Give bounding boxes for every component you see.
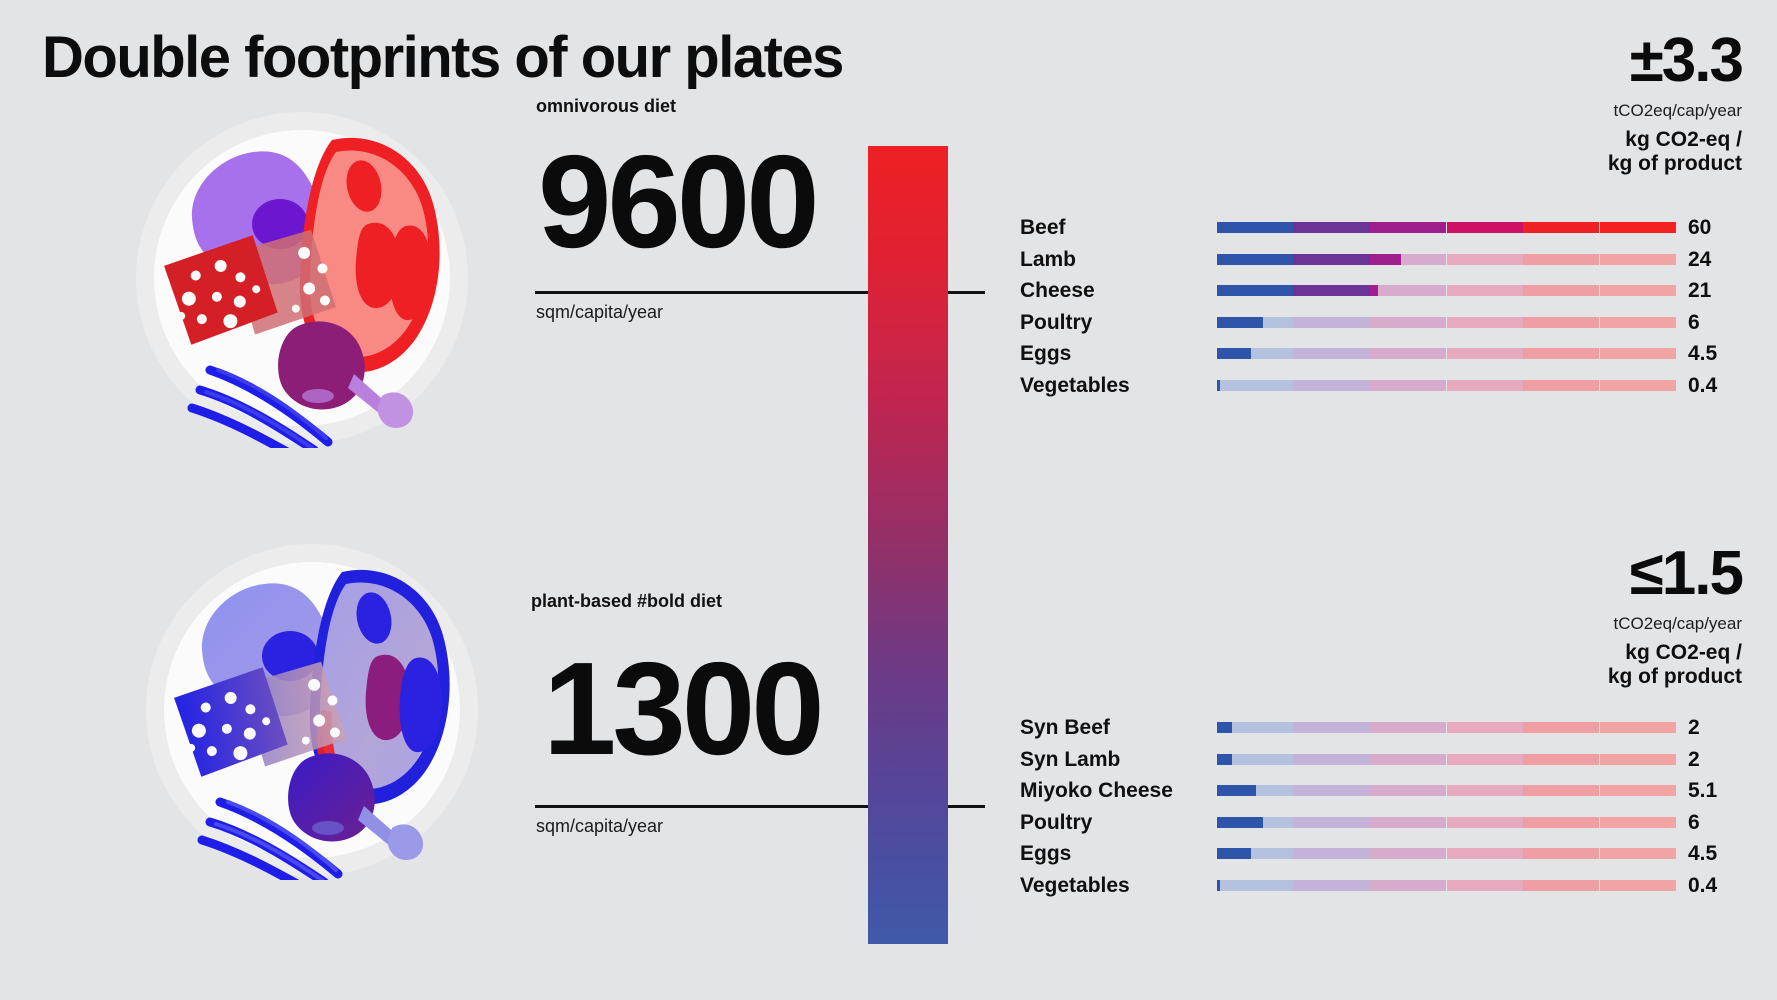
bar-segment — [1523, 722, 1599, 733]
bar-track — [1217, 817, 1676, 828]
bar-category-label: Poultry — [1020, 312, 1217, 333]
bar-segment — [1370, 754, 1446, 765]
bar-value-label: 0.4 — [1676, 875, 1760, 896]
plant-based-emissions-unit: tCO2eq/cap/year — [1608, 613, 1742, 634]
bar-segment — [1293, 722, 1369, 733]
page-title: Double footprints of our plates — [42, 24, 843, 91]
bar-segment — [1600, 348, 1676, 359]
plant-based-emissions-bar-chart: Syn Beef2Syn Lamb2Miyoko Cheese5.1Poultr… — [1020, 712, 1760, 901]
bar-segment — [1370, 348, 1446, 359]
bar-segment — [1523, 317, 1599, 328]
bar-category-label: Eggs — [1020, 343, 1217, 364]
bar-segment — [1447, 285, 1523, 296]
omnivorous-unit-label: sqm/capita/year — [536, 302, 663, 323]
bar-segment — [1370, 817, 1446, 828]
bar-category-label: Syn Lamb — [1020, 749, 1217, 770]
bar-segment — [1293, 817, 1369, 828]
plant-based-emissions-headline: ≤1.5 tCO2eq/cap/year kg CO2-eq / kg of p… — [1608, 543, 1742, 690]
bar-segment — [1378, 285, 1447, 296]
omnivorous-plate-illustration — [132, 108, 472, 448]
plant-based-emissions-sublabel-line1: kg CO2-eq / — [1608, 641, 1742, 665]
bar-segment — [1523, 880, 1599, 891]
bar-segment — [1370, 222, 1446, 233]
bar-value-label: 21 — [1676, 280, 1760, 301]
bar-value-label: 6 — [1676, 312, 1760, 333]
bar-category-label: Lamb — [1020, 249, 1217, 270]
bar-segment — [1251, 348, 1293, 359]
bar-segment — [1600, 848, 1676, 859]
omnivorous-emissions-headline: ±3.3 tCO2eq/cap/year kg CO2-eq / kg of p… — [1608, 30, 1742, 177]
bar-segment — [1523, 848, 1599, 859]
bar-segment — [1600, 722, 1676, 733]
bar-segment — [1293, 222, 1369, 233]
bar-segment — [1523, 754, 1599, 765]
bar-segment — [1370, 380, 1446, 391]
bar-segment — [1447, 880, 1523, 891]
bar-track — [1217, 880, 1676, 891]
bar-track — [1217, 222, 1676, 233]
plant-based-diet-label: plant-based #bold diet — [531, 591, 722, 612]
bar-segment — [1447, 348, 1523, 359]
bar-category-label: Eggs — [1020, 843, 1217, 864]
bar-segment — [1293, 848, 1369, 859]
bar-segment — [1263, 317, 1294, 328]
bar-track — [1217, 754, 1676, 765]
bar-segment — [1217, 317, 1263, 328]
bar-row: Vegetables0.4 — [1020, 370, 1760, 402]
bar-category-label: Syn Beef — [1020, 717, 1217, 738]
bar-segment — [1293, 754, 1369, 765]
bar-segment — [1263, 817, 1294, 828]
bar-segment — [1447, 848, 1523, 859]
bar-row: Poultry6 — [1020, 307, 1760, 339]
bar-row: Vegetables0.4 — [1020, 870, 1760, 902]
bar-segment — [1370, 785, 1446, 796]
bar-category-label: Vegetables — [1020, 375, 1217, 396]
plant-based-plate-illustration — [142, 540, 482, 880]
bar-segment — [1217, 817, 1263, 828]
bar-row: Syn Beef2 — [1020, 712, 1760, 744]
bar-segment — [1370, 317, 1446, 328]
bar-segment — [1447, 722, 1523, 733]
plant-based-emissions-sublabel-line2: kg of product — [1608, 665, 1742, 689]
bar-segment — [1232, 754, 1293, 765]
bar-segment — [1447, 317, 1523, 328]
bar-segment — [1523, 785, 1599, 796]
bar-segment — [1523, 817, 1599, 828]
bar-segment — [1447, 785, 1523, 796]
bar-row: Beef60 — [1020, 212, 1760, 244]
bar-segment — [1293, 254, 1369, 265]
omnivorous-emissions-sublabel: kg CO2-eq / kg of product — [1608, 128, 1742, 176]
bar-value-label: 24 — [1676, 249, 1760, 270]
bar-segment — [1523, 348, 1599, 359]
bar-segment — [1217, 722, 1232, 733]
infographic-canvas: Double footprints of our plates omnivoro… — [0, 0, 1777, 1000]
bar-category-label: Vegetables — [1020, 875, 1217, 896]
omnivorous-footprint-value: 9600 — [538, 136, 816, 268]
bar-track — [1217, 348, 1676, 359]
bar-segment — [1600, 817, 1676, 828]
bar-segment — [1232, 722, 1293, 733]
omnivorous-diet-label: omnivorous diet — [536, 96, 676, 117]
omnivorous-emissions-sublabel-line1: kg CO2-eq / — [1608, 128, 1742, 152]
bar-segment — [1600, 785, 1676, 796]
bar-row: Eggs4.5 — [1020, 838, 1760, 870]
bar-track — [1217, 848, 1676, 859]
bar-segment — [1370, 880, 1446, 891]
bar-segment — [1370, 254, 1401, 265]
bar-segment — [1523, 254, 1599, 265]
bar-segment — [1217, 254, 1293, 265]
bar-category-label: Miyoko Cheese — [1020, 780, 1217, 801]
plant-based-emissions-value: ≤1.5 — [1608, 543, 1742, 605]
bar-segment — [1401, 254, 1447, 265]
bar-segment — [1600, 285, 1676, 296]
bar-segment — [1600, 880, 1676, 891]
bar-segment — [1600, 754, 1676, 765]
omnivorous-emissions-value: ±3.3 — [1608, 30, 1742, 92]
bar-value-label: 5.1 — [1676, 780, 1760, 801]
bar-value-label: 4.5 — [1676, 843, 1760, 864]
bar-row: Cheese21 — [1020, 275, 1760, 307]
plant-based-emissions-sublabel: kg CO2-eq / kg of product — [1608, 641, 1742, 689]
bar-track — [1217, 254, 1676, 265]
bar-track — [1217, 380, 1676, 391]
bar-segment — [1447, 254, 1523, 265]
bar-segment — [1217, 222, 1293, 233]
bar-value-label: 4.5 — [1676, 343, 1760, 364]
bar-row: Lamb24 — [1020, 244, 1760, 276]
bar-segment — [1293, 348, 1369, 359]
bar-value-label: 2 — [1676, 749, 1760, 770]
bar-segment — [1600, 317, 1676, 328]
bar-segment — [1293, 380, 1369, 391]
bar-segment — [1293, 317, 1369, 328]
omnivorous-emissions-unit: tCO2eq/cap/year — [1608, 100, 1742, 121]
bar-segment — [1600, 254, 1676, 265]
bar-segment — [1370, 722, 1446, 733]
bar-segment — [1447, 380, 1523, 391]
bar-row: Syn Lamb2 — [1020, 744, 1760, 776]
bar-segment — [1217, 848, 1251, 859]
bar-segment — [1220, 880, 1293, 891]
bar-segment — [1217, 754, 1232, 765]
bar-track — [1217, 785, 1676, 796]
bar-segment — [1600, 380, 1676, 391]
bar-segment — [1523, 380, 1599, 391]
bar-row: Poultry6 — [1020, 807, 1760, 839]
omnivorous-emissions-sublabel-line2: kg of product — [1608, 152, 1742, 176]
bar-category-label: Poultry — [1020, 812, 1217, 833]
bar-segment — [1251, 848, 1293, 859]
bar-segment — [1370, 285, 1378, 296]
bar-track — [1217, 722, 1676, 733]
bar-value-label: 0.4 — [1676, 375, 1760, 396]
bar-segment — [1523, 285, 1599, 296]
bar-segment — [1293, 880, 1369, 891]
omnivorous-emissions-bar-chart: Beef60Lamb24Cheese21Poultry6Eggs4.5Veget… — [1020, 212, 1760, 401]
bar-track — [1217, 317, 1676, 328]
bar-segment — [1217, 348, 1251, 359]
bar-segment — [1217, 785, 1256, 796]
bar-segment — [1447, 754, 1523, 765]
bar-row: Miyoko Cheese5.1 — [1020, 775, 1760, 807]
bar-segment — [1523, 222, 1599, 233]
bar-segment — [1447, 222, 1523, 233]
bar-value-label: 2 — [1676, 717, 1760, 738]
bar-segment — [1370, 848, 1446, 859]
bar-segment — [1293, 785, 1369, 796]
bar-segment — [1293, 285, 1369, 296]
bar-track — [1217, 285, 1676, 296]
bar-value-label: 60 — [1676, 217, 1760, 238]
bar-row: Eggs4.5 — [1020, 338, 1760, 370]
red-to-blue-gradient-scale — [868, 146, 948, 944]
bar-segment — [1256, 785, 1293, 796]
bar-category-label: Beef — [1020, 217, 1217, 238]
bar-category-label: Cheese — [1020, 280, 1217, 301]
bar-segment — [1447, 817, 1523, 828]
bar-segment — [1600, 222, 1676, 233]
bar-segment — [1217, 285, 1293, 296]
plant-based-unit-label: sqm/capita/year — [536, 816, 663, 837]
plant-based-footprint-value: 1300 — [543, 643, 821, 775]
bar-segment — [1220, 380, 1293, 391]
bar-value-label: 6 — [1676, 812, 1760, 833]
